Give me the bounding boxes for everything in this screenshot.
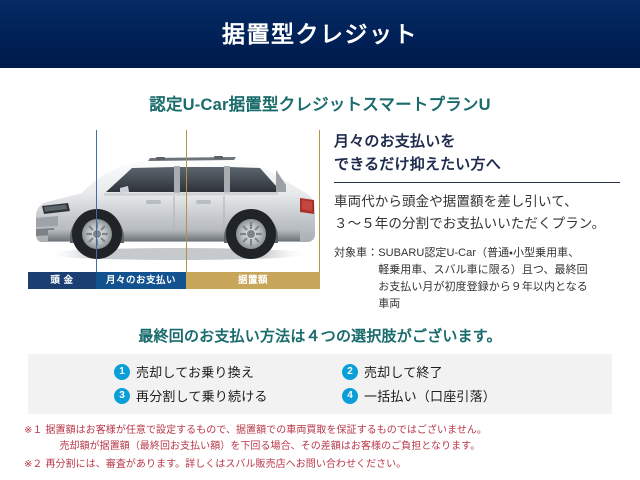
footnote-2: ※２ 再分割には、審査があります。詳しくはスバル販売店へお問い合わせください。 <box>24 457 640 473</box>
copy-heading-line-2: できるだけ抑えたい方へ <box>334 153 628 176</box>
car-image-stage <box>28 130 320 272</box>
final-payment-options-grid: 1 売却してお乗り換え 2 売却して終了 3 再分割して乗り続ける 4 一括払い… <box>28 362 612 405</box>
option-number-badge-2: 2 <box>342 364 358 380</box>
option-item-1[interactable]: 1 売却してお乗り換え <box>114 362 342 381</box>
footnote-2-line-1: 再分割には、審査があります。詳しくはスバル販売店へお問い合わせください。 <box>45 457 640 473</box>
option-label-2: 売却して終了 <box>364 362 443 381</box>
eligible-vehicle-line-1: SUBARU認定U-Car（普通・小型乗用車、 <box>378 245 628 262</box>
plan-subtitle: 認定U-Car据置型クレジットスマートプランU <box>0 96 640 116</box>
footnote-1-lines: 据置額はお客様が任意で設定するもので、据置額での車両買取を保証するものではござい… <box>45 423 640 454</box>
eligible-vehicle-lines: SUBARU認定U-Car（普通・小型乗用車、 軽乗用車、スバル車に限る）且つ、… <box>378 245 628 313</box>
option-item-2[interactable]: 2 売却して終了 <box>342 362 612 381</box>
segment-monthly-payment: 月々のお支払い <box>96 272 186 289</box>
copy-panel: 月々のお支払いを できるだけ抑えたい方へ 車両代から頭金や据置額を差し引いて、 … <box>320 130 628 313</box>
copy-divider <box>334 182 620 183</box>
page-header: 据置型クレジット <box>0 0 640 68</box>
option-item-3[interactable]: 3 再分割して乗り続ける <box>114 386 342 405</box>
footnote-1: ※１ 据置額はお客様が任意で設定するもので、据置額での車両買取を保証するものでは… <box>24 423 640 454</box>
main-content-row: 頭 金 月々のお支払い 据置額 月々のお支払いを できるだけ抑えたい方へ 車両代… <box>0 130 640 313</box>
final-payment-options-panel: 1 売却してお乗り換え 2 売却して終了 3 再分割して乗り続ける 4 一括払い… <box>28 354 612 414</box>
eligible-vehicle-note: 対象車： SUBARU認定U-Car（普通・小型乗用車、 軽乗用車、スバル車に限… <box>334 245 628 313</box>
footnote-2-marker: ※２ <box>24 457 42 473</box>
copy-heading-line-1: 月々のお支払いを <box>334 130 628 153</box>
eligible-vehicle-label: 対象車： <box>334 245 378 313</box>
option-number-badge-4: 4 <box>342 388 358 404</box>
eligible-vehicle-line-3: お支払い月が初度登録から９年以内となる <box>378 279 628 296</box>
footnote-1-line-2: 売却額が据置額（最終回お支払い額）を下回る場合、その差額はお客様のご負担となりま… <box>45 439 640 455</box>
segment-divider-downpayment <box>96 130 97 272</box>
suv-vehicle-illustration <box>28 130 320 272</box>
option-item-4[interactable]: 4 一括払い（口座引落） <box>342 386 612 405</box>
eligible-vehicle-line-2: 軽乗用車、スバル車に限る）且つ、最終回 <box>378 262 628 279</box>
segment-divider-residual <box>319 130 320 272</box>
final-payment-heading: 最終回のお支払い方法は４つの選択肢がございます。 <box>0 325 640 346</box>
segment-down-payment: 頭 金 <box>28 272 96 289</box>
page-title: 据置型クレジット <box>222 23 418 46</box>
car-diagram-panel: 頭 金 月々のお支払い 据置額 <box>28 130 320 289</box>
footnote-2-lines: 再分割には、審査があります。詳しくはスバル販売店へお問い合わせください。 <box>45 457 640 473</box>
footnote-1-marker: ※１ <box>24 423 42 454</box>
payment-segment-bar: 頭 金 月々のお支払い 据置額 <box>28 272 320 289</box>
option-label-1: 売却してお乗り換え <box>136 362 254 381</box>
segment-divider-monthly <box>186 130 187 272</box>
option-number-badge-1: 1 <box>114 364 130 380</box>
copy-heading: 月々のお支払いを できるだけ抑えたい方へ <box>334 130 628 177</box>
option-label-3: 再分割して乗り続ける <box>136 386 268 405</box>
footnotes: ※１ 据置額はお客様が任意で設定するもので、据置額での車両買取を保証するものでは… <box>24 423 640 473</box>
option-label-4: 一括払い（口座引落） <box>364 386 496 405</box>
segment-residual-value: 据置額 <box>186 272 320 289</box>
copy-body: 車両代から頭金や据置額を差し引いて、 ３〜５年の分割でお支払いいただくプラン。 <box>334 191 628 235</box>
footnote-1-line-1: 据置額はお客様が任意で設定するもので、据置額での車両買取を保証するものではござい… <box>45 423 640 439</box>
copy-body-line-1: 車両代から頭金や据置額を差し引いて、 <box>334 191 628 213</box>
eligible-vehicle-line-4: 車両 <box>378 296 628 313</box>
copy-body-line-2: ３〜５年の分割でお支払いいただくプラン。 <box>334 213 628 235</box>
option-number-badge-3: 3 <box>114 388 130 404</box>
